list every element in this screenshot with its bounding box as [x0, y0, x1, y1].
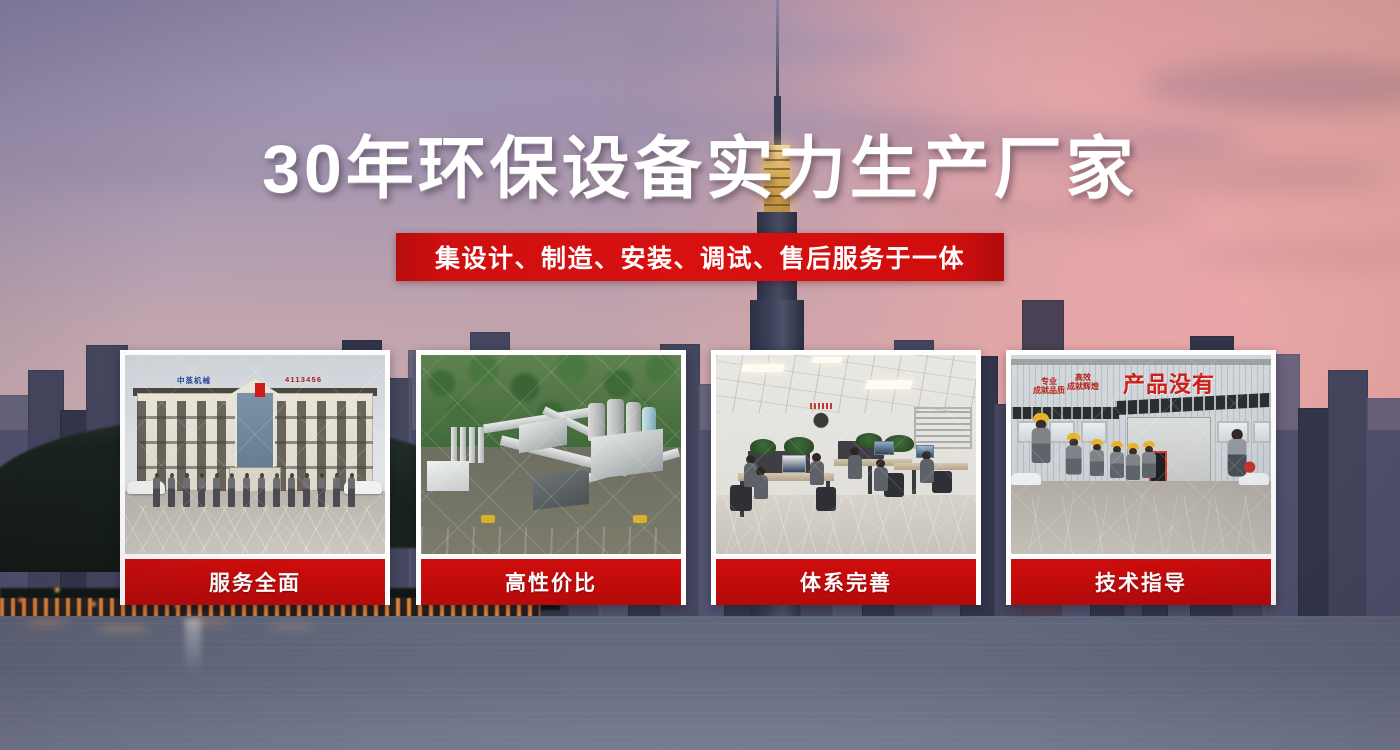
- subtitle-text: 集设计、制造、安装、调试、售后服务于一体: [435, 239, 965, 275]
- potted-plant: [750, 439, 776, 455]
- card-photo-workers: 产品没有 专业 成就品质 高效 成就辉煌: [1011, 355, 1271, 554]
- excavator: [633, 515, 647, 523]
- factory-sign-side-1-line2: 成就品质: [1033, 386, 1065, 395]
- feature-card[interactable]: 产品没有 专业 成就品质 高效 成就辉煌: [1006, 350, 1276, 605]
- factory-sign-main: 产品没有: [1123, 367, 1215, 399]
- card-caption: 体系完善: [716, 559, 976, 605]
- office-window: [914, 407, 972, 449]
- parked-car: [1011, 473, 1041, 485]
- card-caption: 高性价比: [421, 559, 681, 605]
- ceiling-light: [865, 380, 914, 389]
- factory-sign-side-2: 高效 成就辉煌: [1067, 373, 1099, 391]
- ceiling-light: [811, 357, 843, 363]
- laptop: [782, 455, 806, 473]
- monitor: [874, 441, 894, 455]
- building-phone-text: 4113456: [285, 375, 322, 384]
- page-title: 30年环保设备实力生产厂家: [0, 130, 1400, 208]
- factory-sign-side-1-line1: 专业: [1033, 377, 1065, 386]
- card-photo-plant: [421, 355, 681, 554]
- feature-card[interactable]: 高性价比: [416, 350, 686, 605]
- card-caption: 服务全面: [125, 559, 385, 605]
- card-photo-office: [716, 355, 976, 554]
- card-caption: 技术指导: [1011, 559, 1271, 605]
- feature-card[interactable]: 中蒸机械 4113456 服务全面: [120, 350, 390, 605]
- staff-lineup: [153, 477, 357, 517]
- card-photo-headquarters: 中蒸机械 4113456: [125, 355, 385, 554]
- building-sign-text: 中蒸机械: [177, 375, 211, 386]
- subtitle-banner: 集设计、制造、安装、调试、售后服务于一体: [396, 233, 1004, 281]
- potted-plant: [784, 437, 814, 455]
- ceiling-light: [741, 364, 785, 372]
- feature-card-list: 中蒸机械 4113456 服务全面: [120, 350, 1280, 605]
- feature-card[interactable]: 体系完善: [711, 350, 981, 605]
- factory-sign-side-2-line1: 高效: [1067, 373, 1099, 382]
- factory-sign-side-2-line2: 成就辉煌: [1067, 382, 1099, 391]
- factory-sign-side-1: 专业 成就品质: [1033, 377, 1065, 395]
- hero-banner: 30年环保设备实力生产厂家 集设计、制造、安装、调试、售后服务于一体 中蒸机械 …: [0, 0, 1400, 750]
- excavator: [481, 515, 495, 523]
- water-reflections: [0, 616, 470, 686]
- water-light-streak: [185, 618, 201, 674]
- wall-emblem: [804, 403, 838, 431]
- headline-text: 30年环保设备实力生产厂家: [262, 131, 1138, 207]
- flag: [255, 383, 265, 397]
